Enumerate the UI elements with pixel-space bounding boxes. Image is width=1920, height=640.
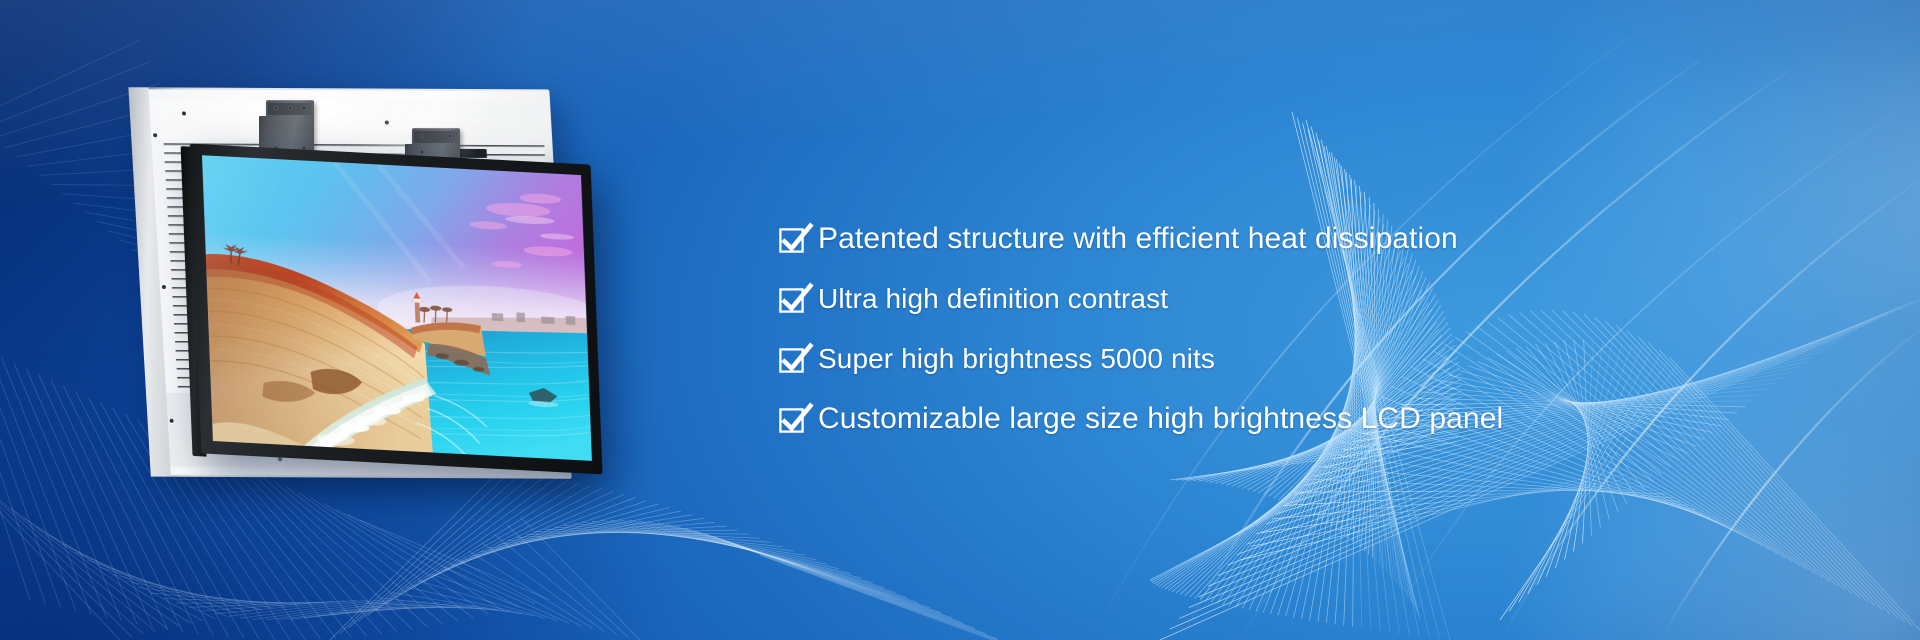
chassis-screw [162,285,166,289]
list-item: Patented structure with efficient heat d… [779,222,1679,256]
checked-checkbox-icon [779,347,807,375]
bracket-hole [302,106,306,110]
bracket-hole [434,134,438,138]
chassis-top-strip [143,99,546,141]
list-item: Ultra high definition contrast [779,282,1679,316]
checked-checkbox-icon [779,407,807,435]
chassis-screw [182,111,186,115]
bracket-hole [420,150,424,154]
display-screen [202,155,592,461]
chassis-screw [153,133,157,137]
bracket-side-wing [259,116,267,150]
display-bezel [189,144,602,475]
bracket-hole [288,106,292,110]
list-item: Customizable large size high brightness … [779,402,1679,436]
chassis-screw [170,419,174,423]
checked-checkbox-icon [779,227,807,255]
product-feature-banner: Patented structure with efficient heat d… [0,0,1920,640]
high-brightness-lcd-display [189,144,602,475]
chassis-screw [278,457,282,461]
feature-label: Patented structure with efficient heat d… [818,222,1458,256]
feature-label: Ultra high definition contrast [818,282,1168,316]
feature-label: Customizable large size high brightness … [818,402,1503,436]
product-image-group [118,62,738,552]
list-item: Super high brightness 5000 nits [779,342,1679,376]
bracket-hole [274,106,278,110]
feature-label: Super high brightness 5000 nits [818,342,1215,376]
bracket-hole [420,134,424,138]
feature-list: Patented structure with efficient heat d… [779,222,1679,436]
chassis-screw [385,121,389,125]
checked-checkbox-icon [779,287,807,315]
bracket-hole [448,134,452,138]
